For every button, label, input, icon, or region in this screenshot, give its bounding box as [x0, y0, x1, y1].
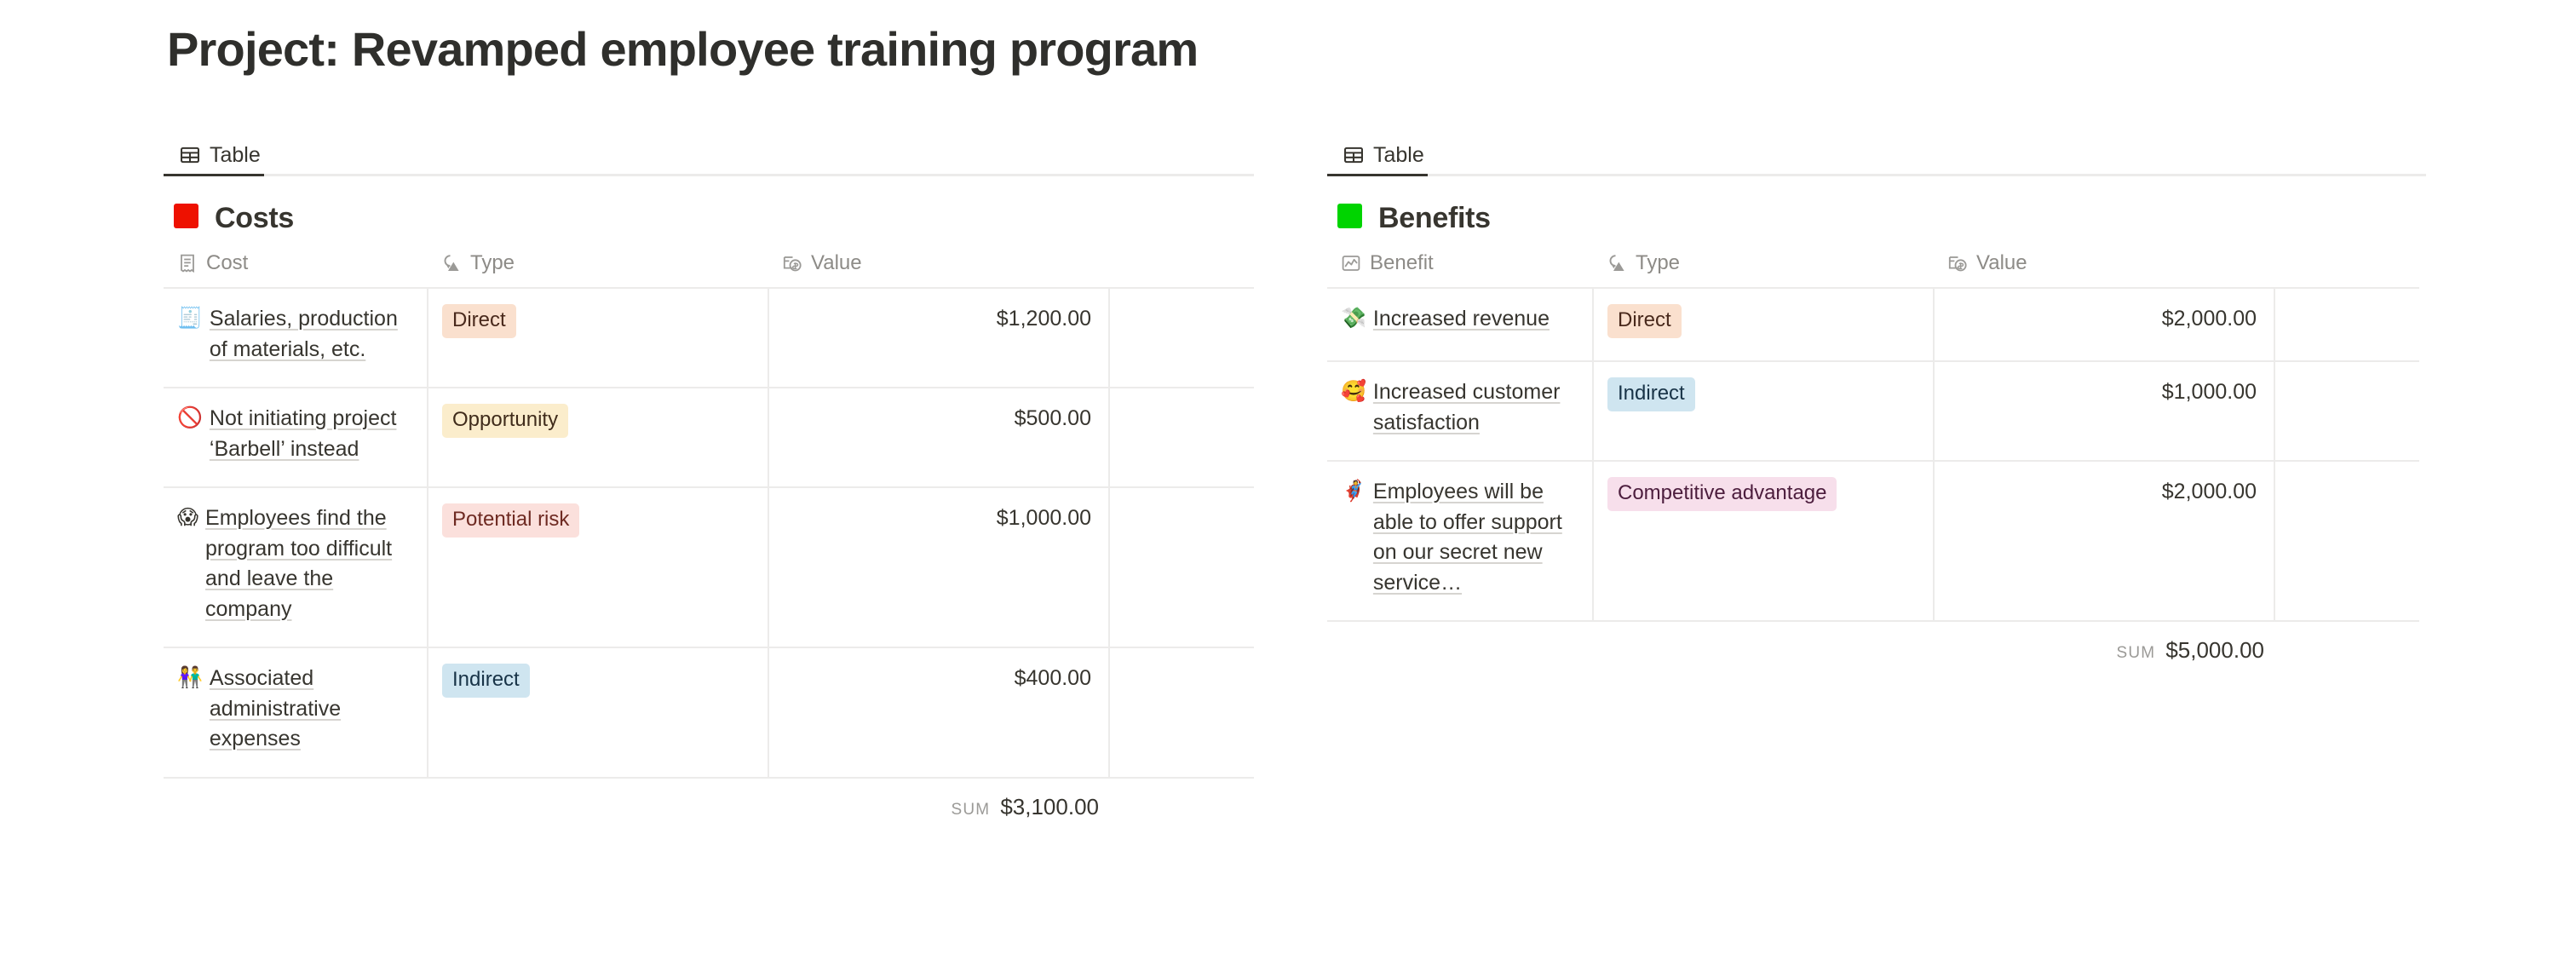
cell-type[interactable]: Direct [1593, 288, 1934, 361]
cell-name[interactable]: 💸Increased revenue [1327, 288, 1593, 361]
table-header-row: CostTypeValue [164, 253, 1254, 288]
table-row[interactable]: 😱Employees find the program too difficul… [164, 487, 1254, 647]
cell-name[interactable]: 😱Employees find the program too difficul… [164, 487, 428, 647]
cell-value[interactable]: $2,000.00 [1934, 461, 2274, 621]
select-icon [1607, 253, 1627, 273]
row-emoji-icon: 🚫 [177, 404, 203, 433]
sum-value: $3,100.00 [1000, 794, 1099, 820]
cell-spacer [1109, 388, 1254, 487]
database-table-benefits: BenefitTypeValue💸Increased revenueDirect… [1327, 253, 2419, 622]
currency-icon [782, 253, 802, 273]
cell-name[interactable]: 🦸Employees will be able to offer support… [1327, 461, 1593, 621]
cell-value[interactable]: $500.00 [768, 388, 1109, 487]
table-row[interactable]: 🥰Increased customer satisfactionIndirect… [1327, 361, 2419, 461]
cell-type[interactable]: Competitive advantage [1593, 461, 1934, 621]
row-title[interactable]: Associated administrative expenses [210, 664, 413, 755]
cell-spacer [2274, 461, 2419, 621]
tab-active-underline-benefits [1327, 174, 2426, 176]
table-row[interactable]: 👫Associated administrative expensesIndir… [164, 647, 1254, 778]
sum-row-costs[interactable]: Sum $3,100.00 [164, 779, 1254, 820]
column-header-spacer [1109, 253, 1254, 288]
column-header-cost[interactable]: Cost [164, 253, 428, 288]
row-title[interactable]: Employees find the program too difficult… [205, 503, 413, 624]
cell-spacer [1109, 288, 1254, 388]
cell-value[interactable]: $1,000.00 [768, 487, 1109, 647]
chart-line-icon [1341, 253, 1361, 273]
column-header-label: Value [811, 253, 862, 273]
column-header-value[interactable]: Value [1934, 253, 2274, 288]
cell-type[interactable]: Indirect [1593, 361, 1934, 461]
type-tag[interactable]: Opportunity [442, 404, 568, 438]
type-tag[interactable]: Indirect [442, 664, 530, 698]
cell-name[interactable]: 🧾Salaries, production of materials, etc. [164, 288, 428, 388]
type-tag[interactable]: Indirect [1607, 377, 1695, 411]
type-tag[interactable]: Potential risk [442, 503, 579, 538]
cell-value[interactable]: $400.00 [768, 647, 1109, 778]
cell-name[interactable]: 🥰Increased customer satisfaction [1327, 361, 1593, 461]
cell-spacer [2274, 361, 2419, 461]
row-emoji-icon: 💸 [1341, 304, 1366, 333]
column-header-spacer [2274, 253, 2419, 288]
row-emoji-icon: 🧾 [177, 304, 203, 333]
database-title-costs[interactable]: Costs [164, 197, 1254, 239]
sum-value: $5,000.00 [2165, 637, 2264, 664]
view-tab-bar-costs: Table [164, 136, 1254, 174]
table-row[interactable]: 🧾Salaries, production of materials, etc.… [164, 288, 1254, 388]
table-grid-icon [179, 144, 201, 166]
red-square-icon [174, 204, 203, 233]
table-row[interactable]: 🚫Not initiating project ‘Barbell’ instea… [164, 388, 1254, 487]
view-tab-bar-benefits: Table [1327, 136, 2426, 174]
table-grid-icon [1343, 144, 1365, 166]
table-row[interactable]: 💸Increased revenueDirect$2,000.00 [1327, 288, 2419, 361]
row-title[interactable]: Increased customer satisfaction [1373, 377, 1578, 438]
column-header-label: Type [470, 253, 515, 273]
column-header-label: Benefit [1370, 253, 1434, 273]
row-title[interactable]: Salaries, production of materials, etc. [210, 304, 413, 365]
database-title-text: Costs [215, 204, 294, 233]
receipt-icon [177, 253, 198, 273]
database-block-costs: Table CostsCostTypeValue🧾Salaries, produ… [164, 136, 1254, 820]
tab-table-benefits[interactable]: Table [1337, 136, 1429, 174]
sum-row-benefits[interactable]: Sum $5,000.00 [1327, 622, 2419, 664]
cell-value[interactable]: $1,200.00 [768, 288, 1109, 388]
type-tag[interactable]: Direct [442, 304, 516, 338]
row-emoji-icon: 🦸 [1341, 477, 1366, 506]
column-header-value[interactable]: Value [768, 253, 1109, 288]
select-icon [441, 253, 462, 273]
database-title-benefits[interactable]: Benefits [1327, 197, 2426, 239]
currency-icon [1947, 253, 1968, 273]
database-title-text: Benefits [1378, 204, 1491, 233]
row-emoji-icon: 🥰 [1341, 377, 1366, 406]
row-title[interactable]: Employees will be able to offer support … [1373, 477, 1578, 598]
sum-label: Sum [2117, 644, 2156, 663]
page-root: Project: Revamped employee training prog… [0, 0, 2576, 966]
row-title[interactable]: Not initiating project ‘Barbell’ instead [210, 404, 413, 464]
column-header-label: Cost [206, 253, 248, 273]
row-title[interactable]: Increased revenue [1373, 304, 1550, 335]
type-tag[interactable]: Direct [1607, 304, 1682, 338]
green-square-icon [1337, 204, 1366, 233]
cell-name[interactable]: 👫Associated administrative expenses [164, 647, 428, 778]
database-table-costs: CostTypeValue🧾Salaries, production of ma… [164, 253, 1254, 779]
cell-type[interactable]: Opportunity [428, 388, 768, 487]
column-header-label: Type [1636, 253, 1680, 273]
column-header-benefit[interactable]: Benefit [1327, 253, 1593, 288]
cell-value[interactable]: $1,000.00 [1934, 361, 2274, 461]
database-block-benefits: Table BenefitsBenefitTypeValue💸Increased… [1327, 136, 2426, 664]
cell-name[interactable]: 🚫Not initiating project ‘Barbell’ instea… [164, 388, 428, 487]
page-title: Project: Revamped employee training prog… [167, 20, 1198, 78]
tab-label: Table [1373, 145, 1424, 166]
column-header-type[interactable]: Type [428, 253, 768, 288]
column-header-type[interactable]: Type [1593, 253, 1934, 288]
tab-active-underline-costs [164, 174, 1254, 176]
row-emoji-icon: 😱 [177, 503, 198, 532]
row-emoji-icon: 👫 [177, 664, 203, 693]
type-tag[interactable]: Competitive advantage [1607, 477, 1837, 511]
tab-label: Table [210, 145, 261, 166]
tab-table-costs[interactable]: Table [174, 136, 266, 174]
cell-spacer [1109, 647, 1254, 778]
sum-label: Sum [952, 801, 991, 819]
cell-spacer [2274, 288, 2419, 361]
cell-spacer [1109, 487, 1254, 647]
cell-type[interactable]: Indirect [428, 647, 768, 778]
table-row[interactable]: 🦸Employees will be able to offer support… [1327, 461, 2419, 621]
cell-value[interactable]: $2,000.00 [1934, 288, 2274, 361]
column-header-label: Value [1976, 253, 2027, 273]
cell-type[interactable]: Direct [428, 288, 768, 388]
table-header-row: BenefitTypeValue [1327, 253, 2419, 288]
cell-type[interactable]: Potential risk [428, 487, 768, 647]
